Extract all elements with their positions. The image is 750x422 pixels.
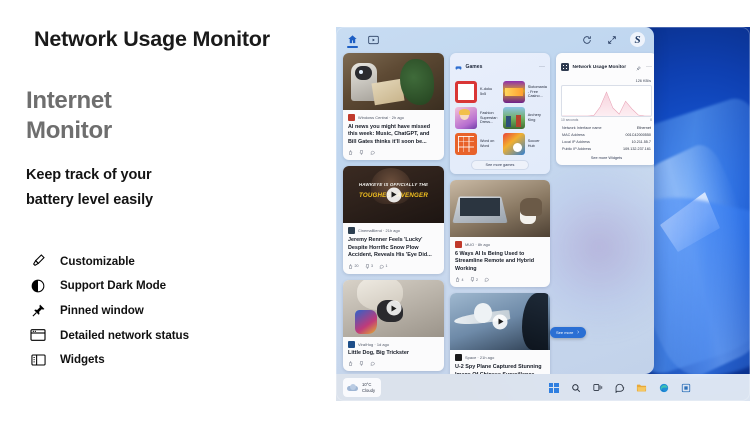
info-key: MAC Address <box>562 133 585 137</box>
feature-label: Widgets <box>60 353 105 366</box>
like-icon[interactable]: 20 <box>348 264 359 269</box>
game-item[interactable]: K-doku 5x5 <box>455 81 498 103</box>
network-info-rows: Network Interface name Ethernet MAC Addr… <box>561 125 652 152</box>
info-key: Public IP Address <box>562 147 591 151</box>
info-value: 001C42000550 <box>626 133 651 137</box>
like-icon[interactable]: 4 <box>455 277 464 282</box>
news-thumbnail <box>450 180 550 237</box>
promo-subtitle: Internet Monitor <box>26 86 112 146</box>
widgets-columns: Windows Central · 2h ago AI news you mig… <box>343 53 654 374</box>
reaction-row[interactable]: 20 3 1 <box>348 264 439 269</box>
see-more-games-button[interactable]: See more games <box>471 160 529 170</box>
news-thumbnail <box>343 53 444 110</box>
like-count: 4 <box>462 278 464 282</box>
feature-item-pinned-window: Pinned window <box>26 298 276 323</box>
promo-tagline-line1: Keep track of your <box>26 163 153 188</box>
edge-icon[interactable] <box>657 381 670 394</box>
games-icon <box>455 58 462 76</box>
games-grid: K-doku 5x5 Slotomania - Free Casino... <box>455 81 545 155</box>
dislike-icon[interactable] <box>359 361 364 366</box>
promo-panel: Network Usage Monitor Internet Monitor K… <box>0 0 340 422</box>
like-count: 20 <box>355 264 359 268</box>
info-row: Public IP Address 109.132.237.161 <box>561 145 652 152</box>
see-more-widgets-link[interactable]: See more Widgets <box>561 156 652 161</box>
source-logo <box>348 114 355 121</box>
play-icon[interactable] <box>493 314 508 329</box>
pin-icon <box>26 300 50 320</box>
game-tile <box>503 107 525 129</box>
news-headline: 6 Ways AI Is Being Used to Streamline Re… <box>455 251 545 274</box>
like-icon[interactable] <box>348 150 353 155</box>
taskbar: 10°C Cloudy <box>336 374 750 401</box>
widgets-board: S <box>336 27 654 374</box>
news-headline: Jeremy Renner Feels 'Lucky' Despite Horr… <box>348 237 439 260</box>
window-icon <box>26 325 50 345</box>
game-name: Soccer Hub <box>528 139 547 149</box>
source-logo <box>455 354 462 361</box>
video-icon[interactable] <box>366 33 380 47</box>
network-usage-chart <box>561 85 652 117</box>
game-item[interactable]: Word on Word <box>455 133 498 155</box>
ellipsis-icon[interactable]: ··· <box>539 65 545 69</box>
taskbar-icons <box>547 381 692 394</box>
news-headline: Little Dog, Big Trickster <box>348 350 439 358</box>
news-card[interactable]: HAWKEYE IS OFFICIALLY THE TOUGHEST AVENG… <box>343 166 444 273</box>
chart-svg <box>562 86 651 116</box>
source-logo <box>455 241 462 248</box>
reaction-row[interactable] <box>348 150 439 155</box>
feature-item-customizable: Customizable <box>26 249 276 274</box>
page-title: Network Usage Monitor <box>34 27 270 52</box>
avatar[interactable]: S <box>630 32 645 47</box>
info-key: Network Interface name <box>562 126 602 130</box>
network-rate-label: 126 KB/s <box>561 79 651 83</box>
weather-widget[interactable]: 10°C Cloudy <box>343 378 381 397</box>
news-source: Windows Central · 2h ago <box>358 115 404 120</box>
reaction-row[interactable] <box>348 361 439 366</box>
play-icon[interactable] <box>386 187 401 202</box>
news-headline: AI news you might have missed this week:… <box>348 124 439 147</box>
game-item[interactable]: Soccer Hub <box>503 133 547 155</box>
promo-subtitle-line2: Monitor <box>26 116 112 146</box>
game-tile <box>503 133 525 155</box>
comment-icon[interactable]: 1 <box>379 264 388 269</box>
promo-tagline: Keep track of your battery level easily <box>26 163 153 213</box>
feature-label: Detailed network status <box>60 329 189 342</box>
news-card[interactable]: Windows Central · 2h ago AI news you mig… <box>343 53 444 160</box>
source-logo <box>348 341 355 348</box>
cloud-icon <box>347 383 358 392</box>
news-source: CinemaBlend · 21h ago <box>358 228 400 233</box>
grid-icon <box>561 63 569 71</box>
game-tile <box>455 81 477 103</box>
games-widget-title: Games <box>466 64 483 70</box>
news-card[interactable]: MUO · 8h ago 6 Ways AI Is Being Used to … <box>450 180 550 287</box>
news-source: Space · 21h ago <box>465 355 494 360</box>
game-name: Word on Word <box>480 139 498 149</box>
brush-icon <box>26 251 50 271</box>
chat-icon[interactable] <box>613 381 626 394</box>
game-name: Archery King <box>528 113 547 123</box>
news-card[interactable]: Space · 21h ago U-2 Spy Plane Captured S… <box>450 293 550 374</box>
game-tile <box>503 81 525 103</box>
dislike-count: 3 <box>371 264 373 268</box>
news-thumbnail <box>450 293 550 350</box>
news-card[interactable]: ViralHog · 1d ago Little Dog, Big Tricks… <box>343 280 444 372</box>
search-icon[interactable] <box>569 381 582 394</box>
game-name: K-doku 5x5 <box>480 87 498 97</box>
info-value: 109.132.237.161 <box>623 147 651 151</box>
file-explorer-icon[interactable] <box>635 381 648 394</box>
dislike-count: 2 <box>476 278 478 282</box>
weather-condition: Cloudy <box>362 388 375 394</box>
network-widget-title: Network Usage Monitor <box>573 65 627 70</box>
info-row: Network Interface name Ethernet <box>561 125 652 132</box>
feature-list: Customizable Support Dark Mode Pinned wi… <box>26 249 276 372</box>
dislike-icon[interactable] <box>359 150 364 155</box>
promo-subtitle-line1: Internet <box>26 86 112 116</box>
comment-count: 1 <box>386 264 388 268</box>
windows-screenshot: S <box>336 27 750 401</box>
info-key: Local IP Address <box>562 140 590 144</box>
like-icon[interactable] <box>348 361 353 366</box>
store-icon[interactable] <box>679 381 692 394</box>
news-column-left: Windows Central · 2h ago AI news you mig… <box>343 53 444 374</box>
play-icon[interactable] <box>386 301 401 316</box>
promo-tagline-line2: battery level easily <box>26 188 153 213</box>
game-name: Slotomania - Free Casino... <box>528 85 547 100</box>
info-row: MAC Address 001C42000550 <box>561 132 652 139</box>
feature-item-dark-mode: Support Dark Mode <box>26 274 276 299</box>
news-source: MUO · 8h ago <box>465 242 490 247</box>
game-item[interactable]: Slotomania - Free Casino... <box>503 81 547 103</box>
news-headline: U-2 Spy Plane Captured Stunning Image Of… <box>455 364 545 374</box>
comment-icon[interactable] <box>370 150 375 155</box>
expand-icon[interactable] <box>605 33 619 47</box>
game-item[interactable]: Fashion Superstar: Dress... <box>455 107 498 129</box>
ellipsis-icon[interactable]: ··· <box>646 66 652 69</box>
game-tile <box>455 133 477 155</box>
widgets-topbar: S <box>336 27 654 52</box>
network-usage-monitor-widget[interactable]: Network Usage Monitor ··· 126 KB/s <box>556 53 654 165</box>
feature-label: Pinned window <box>60 304 144 317</box>
widget-column-right: Network Usage Monitor ··· 126 KB/s <box>556 53 654 374</box>
comment-icon[interactable] <box>370 361 375 366</box>
info-row: Local IP Address 10.211.55.7 <box>561 139 652 146</box>
dark-mode-icon <box>26 276 50 296</box>
chart-xlabel: 10 seconds <box>561 118 578 122</box>
dislike-icon[interactable]: 2 <box>470 277 479 282</box>
info-value: 10.211.55.7 <box>632 140 651 144</box>
see-more-button[interactable]: See more <box>550 327 586 338</box>
source-logo <box>348 227 355 234</box>
refresh-icon[interactable] <box>580 33 594 47</box>
widgets-icon <box>26 350 50 370</box>
game-tile <box>455 107 477 129</box>
dislike-icon[interactable]: 3 <box>365 264 374 269</box>
news-source: ViralHog · 1d ago <box>358 342 389 347</box>
reaction-row[interactable]: 4 2 <box>455 277 545 282</box>
start-icon[interactable] <box>547 381 560 394</box>
feature-label: Customizable <box>60 255 135 268</box>
feature-item-widgets: Widgets <box>26 347 276 372</box>
task-view-icon[interactable] <box>591 381 604 394</box>
weather-text: 10°C Cloudy <box>362 382 375 394</box>
info-value: Ethernet <box>637 126 651 130</box>
game-name: Fashion Superstar: Dress... <box>480 111 498 126</box>
feature-item-network-status: Detailed network status <box>26 323 276 348</box>
games-widget[interactable]: Games ··· K-doku 5x5 <box>450 53 550 174</box>
news-thumbnail: HAWKEYE IS OFFICIALLY THE TOUGHEST AVENG… <box>343 166 444 223</box>
feature-label: Support Dark Mode <box>60 279 166 292</box>
chart-xlabel-right: 0 <box>650 118 652 122</box>
pin-icon[interactable] <box>636 58 641 76</box>
chevron-right-icon <box>576 330 580 335</box>
home-icon[interactable] <box>345 33 359 47</box>
see-more-label: See more <box>556 330 573 335</box>
comment-icon[interactable] <box>484 277 489 282</box>
news-column-middle: Games ··· K-doku 5x5 <box>450 53 550 374</box>
game-item[interactable]: Archery King <box>503 107 547 129</box>
news-thumbnail <box>343 280 444 337</box>
